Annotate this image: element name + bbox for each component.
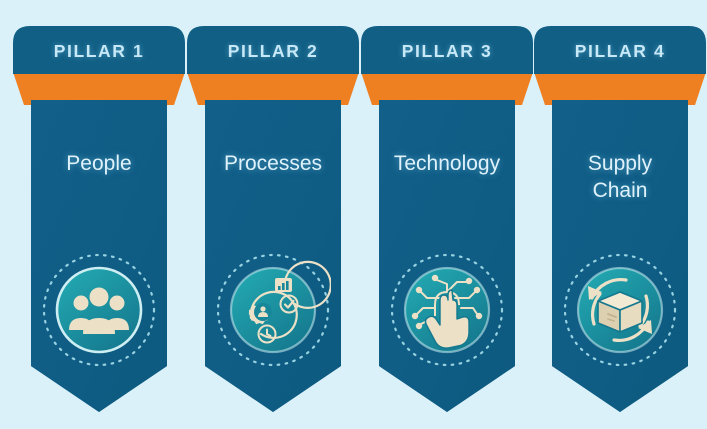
pillar-4-title-line-1: Supply — [588, 152, 652, 175]
pillar-4-title-line-2: Chain — [593, 179, 648, 202]
pillar-1-title: People — [20, 150, 178, 177]
gear-cycle-analytics-icon — [215, 252, 331, 368]
pillar-3-header: PILLAR 3 — [360, 41, 534, 61]
people-group-icon — [41, 252, 157, 368]
hand-touch-circuit-icon — [389, 252, 505, 368]
infographic-canvas: PILLAR 1 People — [0, 0, 707, 429]
pillar-3-title: Technology — [368, 150, 526, 177]
pillar-1[interactable]: PILLAR 1 People — [12, 0, 186, 429]
pillar-group: PILLAR 1 People — [0, 0, 707, 429]
pillar-4-header: PILLAR 4 — [533, 41, 707, 61]
pillar-1-header: PILLAR 1 — [12, 41, 186, 61]
pillar-2-title: Processes — [194, 150, 352, 177]
box-cycle-icon — [562, 252, 678, 368]
pillar-4-title: SupplyChain — [541, 150, 699, 204]
pillar-2-header: PILLAR 2 — [186, 41, 360, 61]
pillar-4[interactable]: PILLAR 4 SupplyChain — [533, 0, 707, 429]
pillar-2[interactable]: PILLAR 2 Processes — [186, 0, 360, 429]
pillar-3[interactable]: PILLAR 3 Technology — [360, 0, 534, 429]
